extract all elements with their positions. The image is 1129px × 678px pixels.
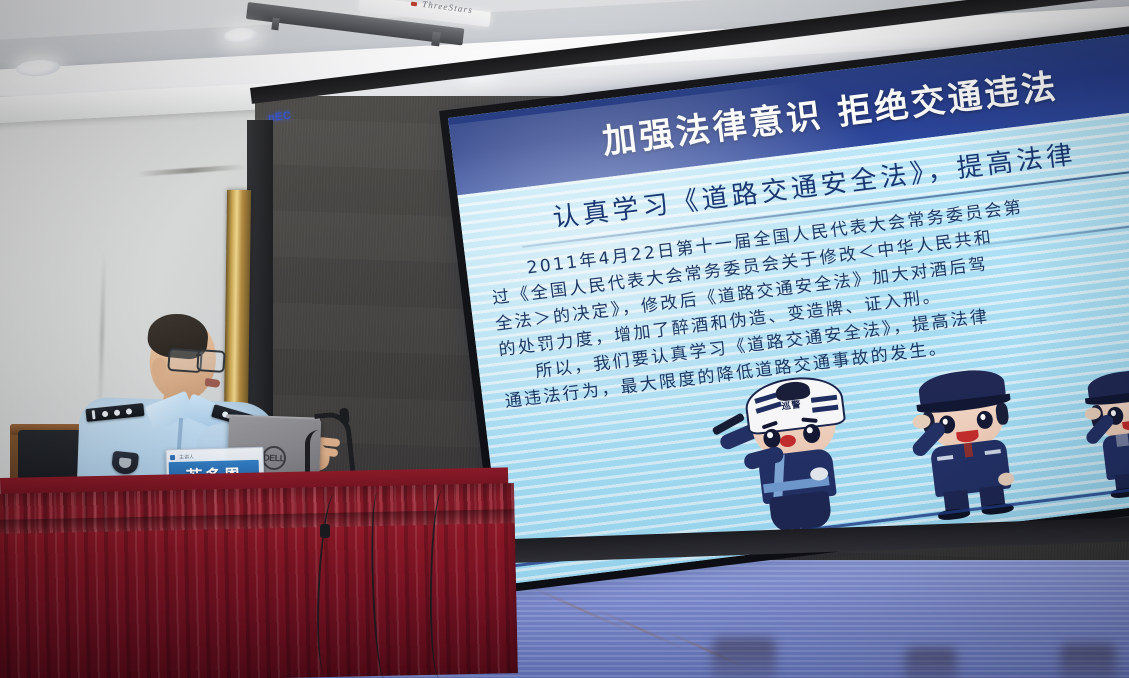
light-bar-logo-dot (411, 2, 417, 7)
floor-reflection-3 (1060, 644, 1116, 678)
light-bar-bracket-left (271, 18, 279, 31)
presentation-photo-scene: ThreeStars nEC 加强法律意识 拒绝交通违法 认真学习《道路交通安全… (0, 0, 1129, 678)
epaulette-left-star-1 (102, 411, 109, 418)
presenter-glasses-right-lens (196, 349, 225, 373)
mascot2-tie (964, 443, 974, 458)
epaulette-left-star-3 (126, 408, 133, 415)
presenter-glasses-bridge (196, 354, 201, 356)
light-bar-bracket-right (431, 32, 441, 47)
mascot3-collar (1116, 434, 1129, 447)
name-plate-header-text: 主讲人 (179, 453, 194, 460)
mascot-police-female-saluting (1074, 364, 1129, 501)
epaulette-left-bar (92, 410, 96, 419)
slide-surface: 加强法律意识 拒绝交通违法 认真学习《道路交通安全法》，提高法律 2011年4月… (448, 25, 1129, 584)
projection-screen[interactable]: 加强法律意识 拒绝交通违法 认真学习《道路交通安全法》，提高法律 2011年4月… (448, 25, 1129, 584)
cable-clip (320, 524, 330, 538)
floor-reflection-1 (712, 638, 776, 678)
floor-reflection-2 (905, 648, 957, 678)
mascot1-helmet-stripe-d (812, 405, 838, 413)
mascot1-helmet-stripe-b (756, 401, 782, 413)
mascot1-helmet-stripe-c (811, 395, 837, 403)
epaulette-left-star-2 (114, 409, 121, 416)
name-plate-emblem (170, 455, 175, 460)
presenter-ear (152, 358, 166, 378)
microphone-capsule (339, 408, 350, 425)
mascot1-helmet-text: 巡警 (781, 397, 802, 412)
mascot-traffic-police-directing: 巡警 nipic.com (711, 374, 876, 543)
mascot-police-male-saluting (901, 365, 1047, 522)
